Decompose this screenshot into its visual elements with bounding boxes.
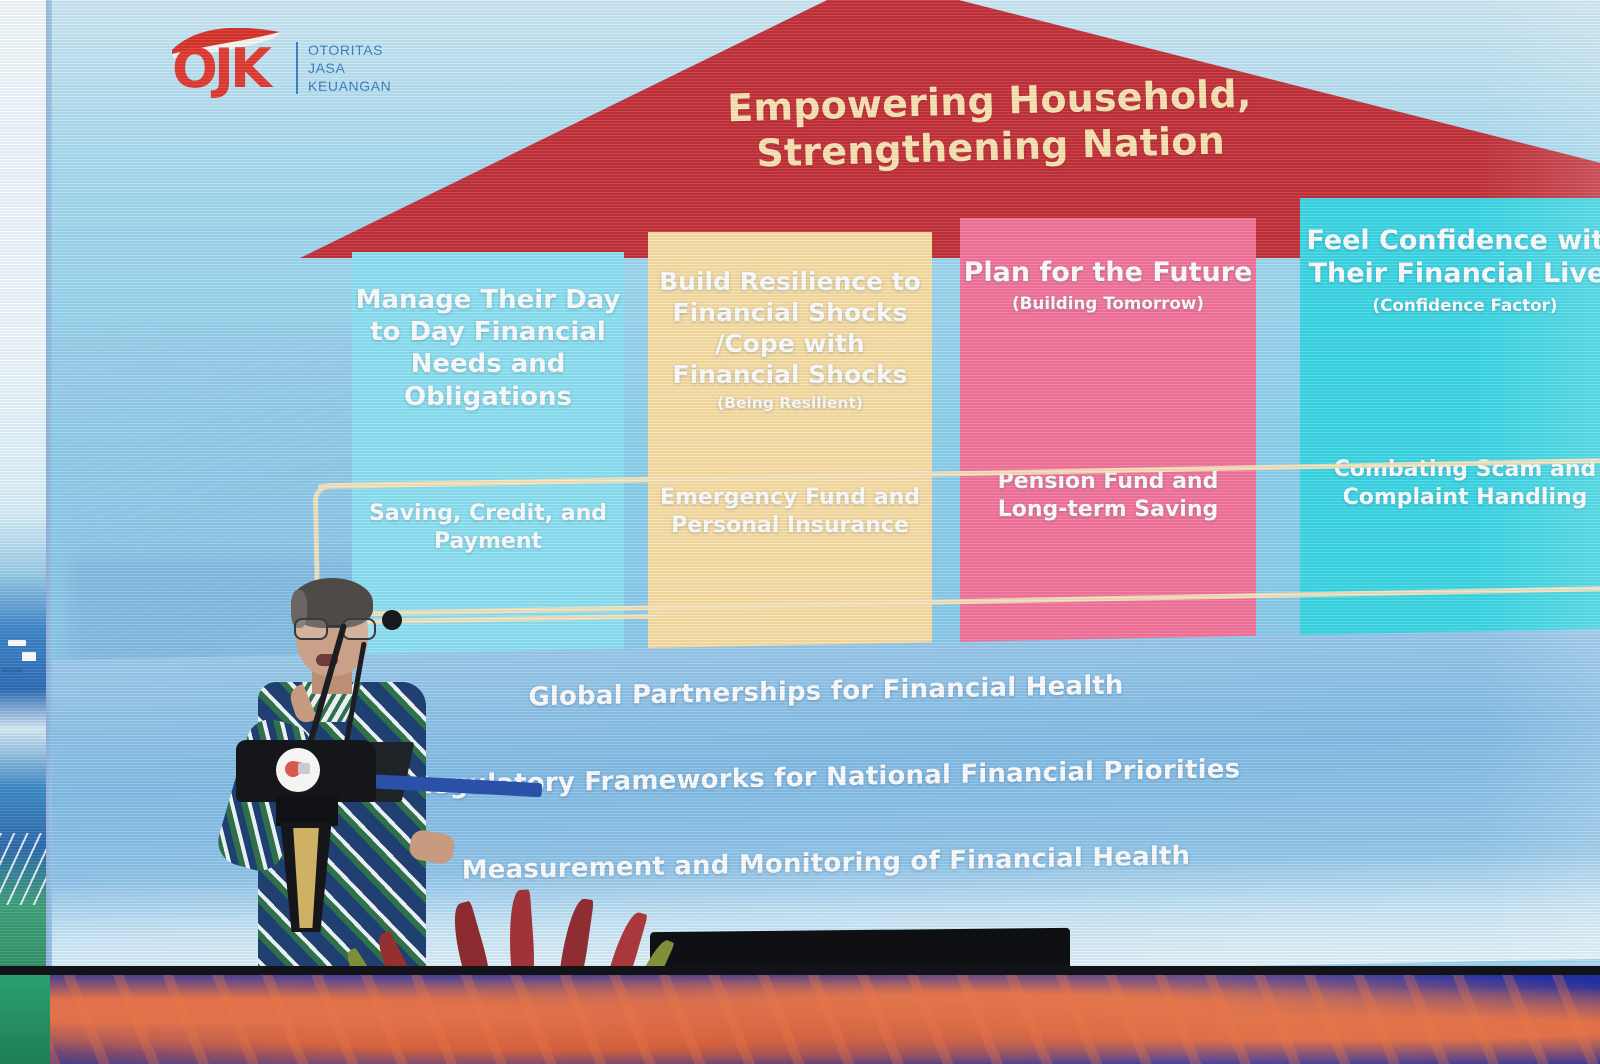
ojk-wordmark: OJK: [172, 42, 268, 96]
bridge-detail: [0, 833, 46, 905]
ojk-fullname-line1: OTORITAS: [308, 42, 391, 60]
ojk-logo: OJK OTORITAS JASA KEUANGAN: [168, 28, 368, 100]
pillar-3-subtitle: (Building Tomorrow): [960, 293, 1256, 314]
stage-apron-pattern: [0, 975, 1600, 1064]
ojk-fullname-line2: JASA: [308, 60, 391, 78]
screenshot-root: Empowering Household, Strengthening Nati…: [0, 0, 1600, 1064]
pillar-2-detail: Emergency Fund and Personal Insurance: [648, 484, 932, 539]
podium-emblem-logo: [276, 748, 320, 792]
ojk-fullname-line3: KEUANGAN: [308, 78, 391, 96]
stage-greenery-left: [0, 975, 50, 1064]
pillar-3-heading: Plan for the Future (Building Tomorrow): [960, 256, 1256, 314]
screen-edge-glow: [1480, 0, 1600, 985]
pillar-column-2: Build Resilience to Financial Shocks /Co…: [648, 232, 932, 664]
microphone-head-icon: [382, 610, 402, 630]
pillar-3-detail: Pension Fund and Long-term Saving: [960, 468, 1256, 523]
podium-neck: [276, 796, 338, 826]
pillar-2-heading: Build Resilience to Financial Shocks /Co…: [648, 266, 932, 413]
pillar-2-subtitle: (Being Resilient): [648, 394, 932, 413]
ojk-fullname: OTORITAS JASA KEUANGAN: [308, 42, 391, 96]
speaker-glasses-icon: [294, 618, 372, 636]
pillar-1-heading: Manage Their Day to Day Financial Needs …: [352, 284, 624, 413]
logo-divider: [296, 42, 298, 94]
